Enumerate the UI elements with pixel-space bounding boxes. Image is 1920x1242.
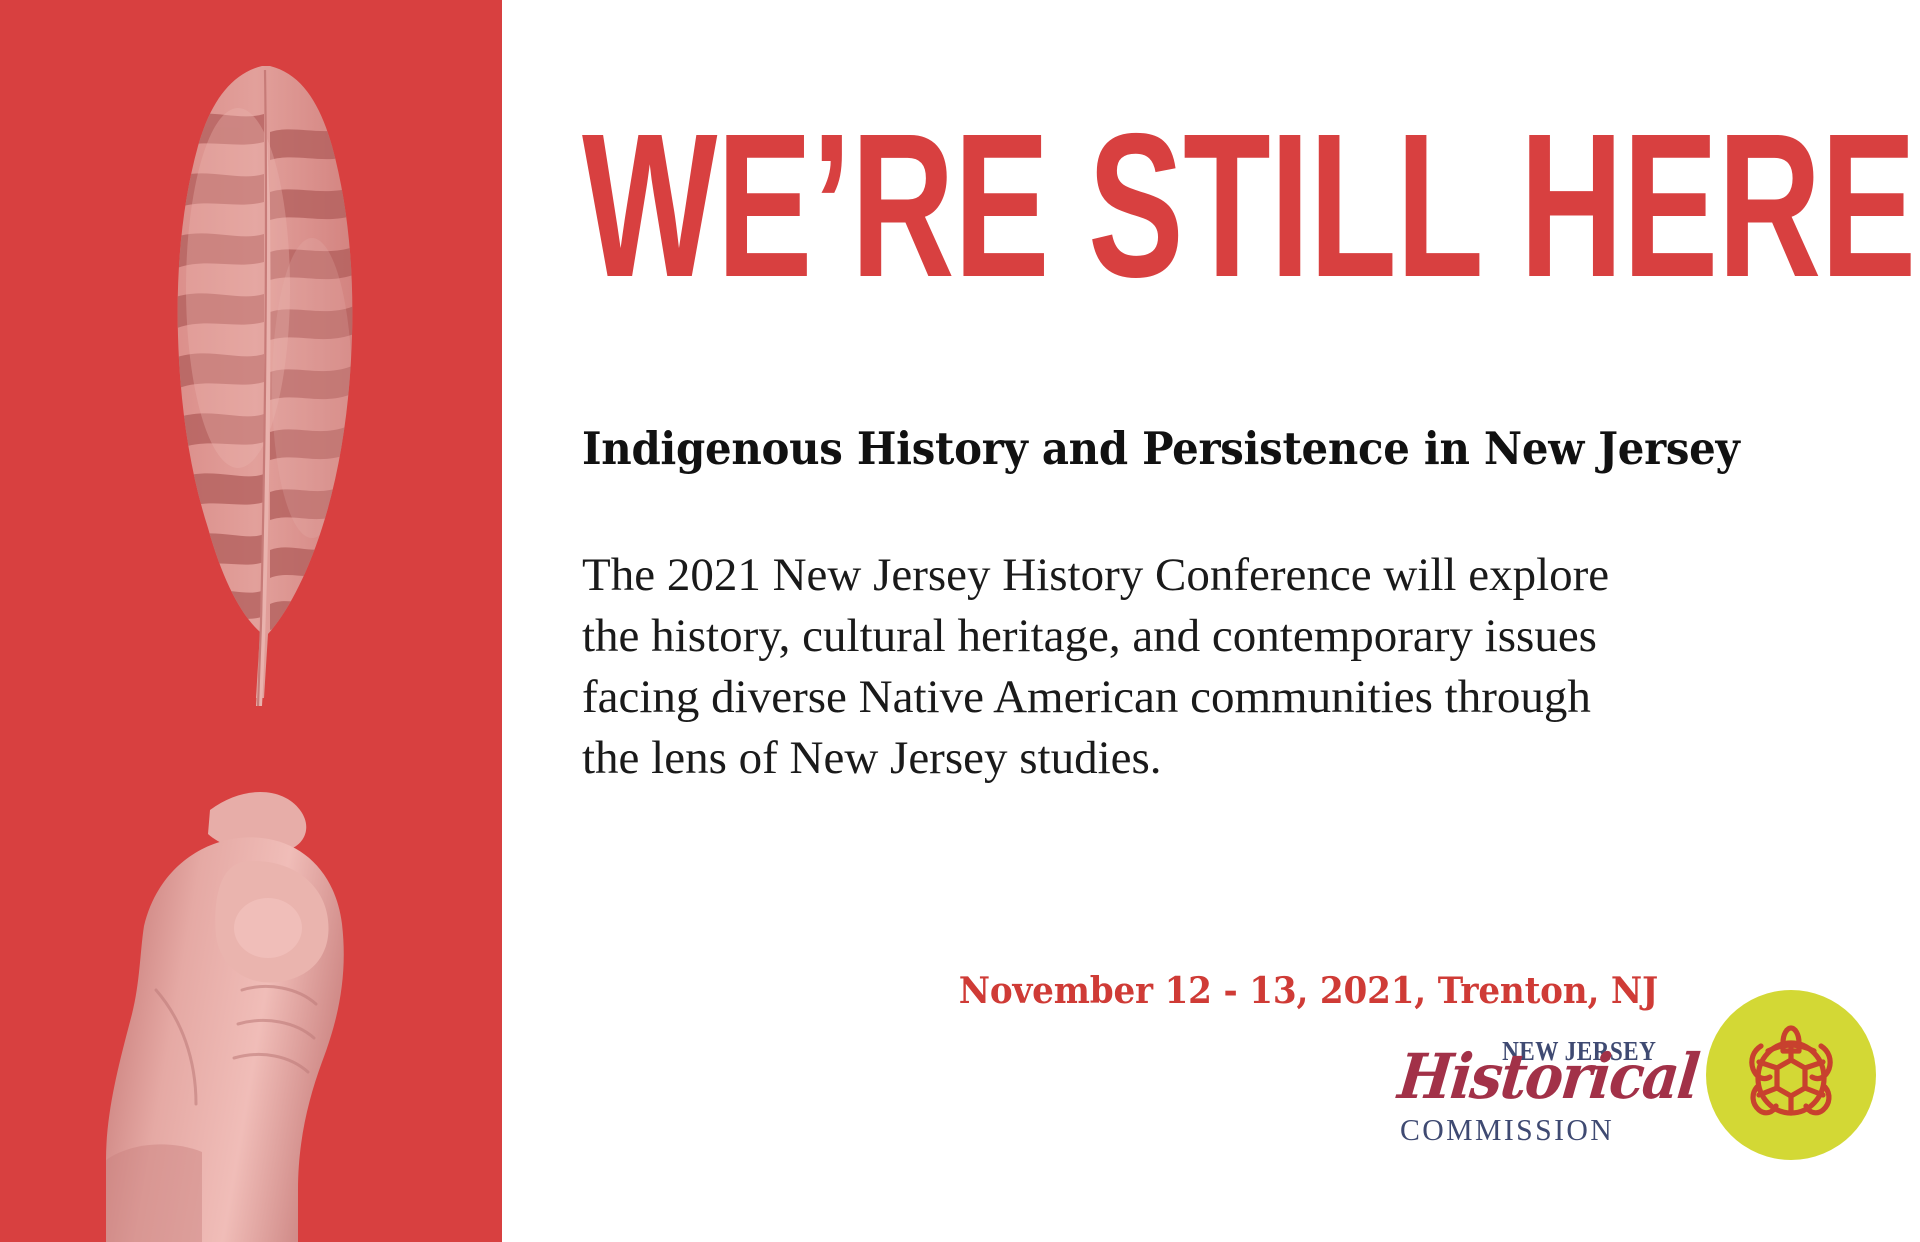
footer: November 12 - 13, 2021, Trenton, NJ NEW …	[582, 940, 1920, 1190]
poster-canvas: WE’RE STILL HERE: Indigenous History and…	[0, 0, 1920, 1242]
turtle-badge	[1706, 990, 1876, 1160]
feather-photo-panel	[0, 0, 502, 1242]
content-column: WE’RE STILL HERE: Indigenous History and…	[582, 0, 1920, 1242]
page-title: WE’RE STILL HERE:	[582, 112, 1443, 301]
njhc-logo-line-commission: COMMISSION	[1400, 1112, 1614, 1148]
njhc-logo: NEW JERSEY Historical COMMISSION	[1398, 1032, 1658, 1148]
description-paragraph: The 2021 New Jersey History Conference w…	[582, 545, 1642, 789]
turtle-icon	[1731, 1015, 1851, 1135]
event-details: November 12 - 13, 2021, Trenton, NJ	[959, 970, 1658, 1012]
hand-holding-feather-icon	[92, 690, 412, 1242]
description-block: The 2021 New Jersey History Conference w…	[582, 545, 1642, 789]
njhc-logo-line-historical: Historical	[1395, 1046, 1700, 1108]
page-subtitle: Indigenous History and Persistence in Ne…	[582, 422, 1782, 475]
